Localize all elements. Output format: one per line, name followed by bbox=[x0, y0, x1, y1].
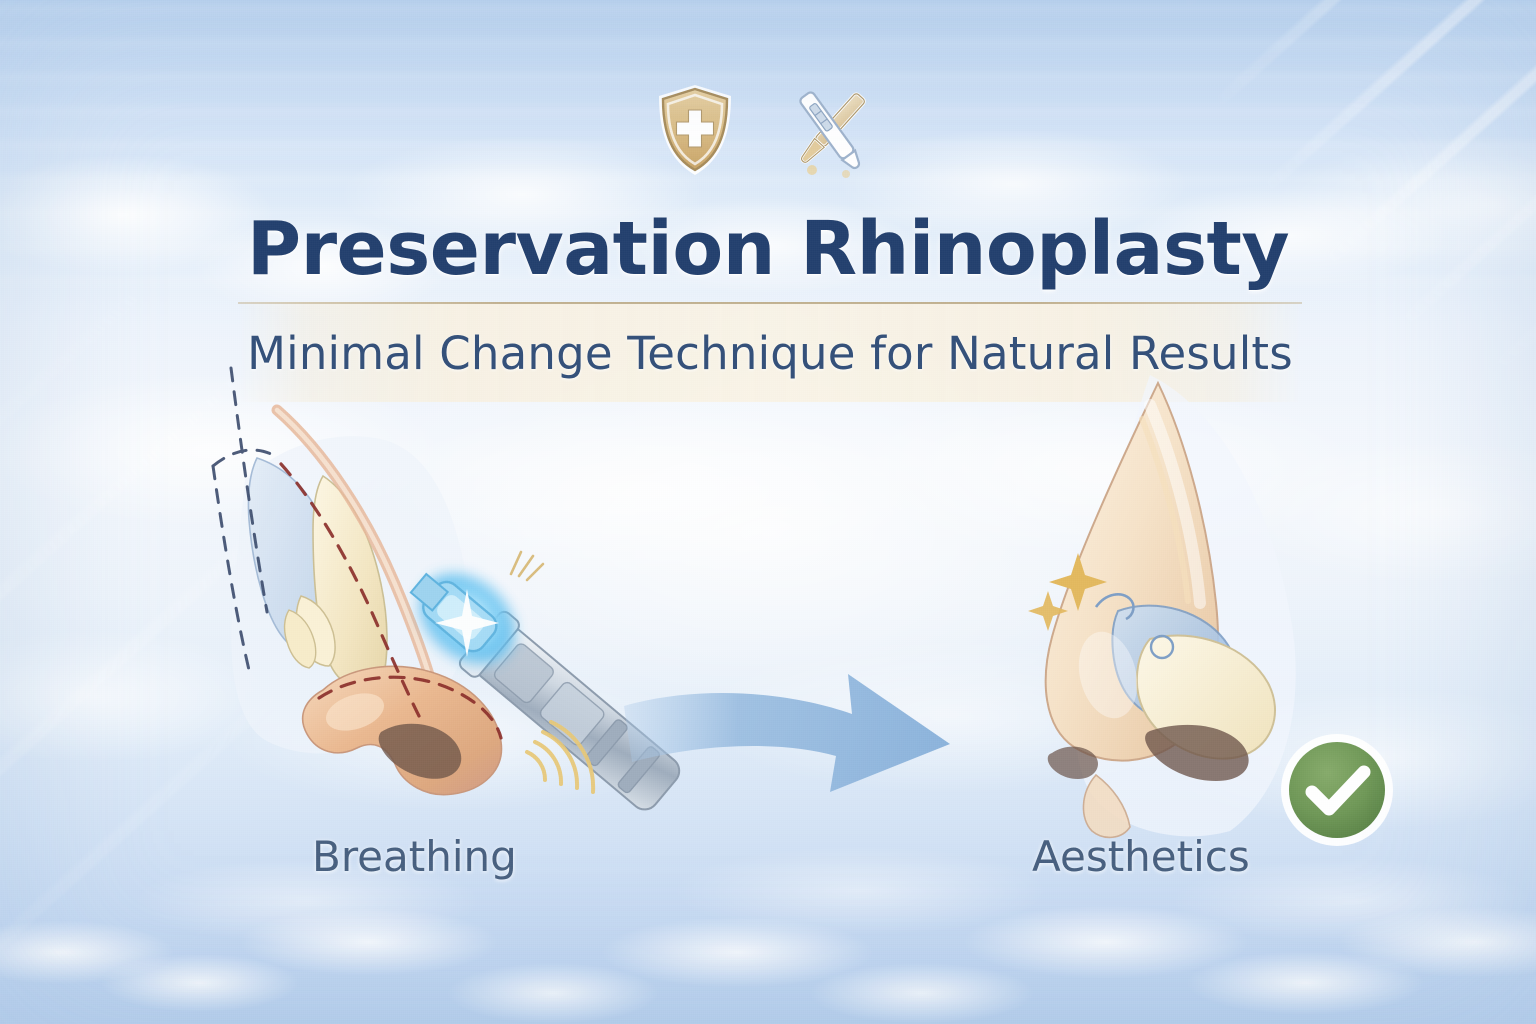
shield-medical-icon bbox=[652, 80, 738, 185]
vibration-arcs-icon bbox=[527, 722, 593, 792]
subtitle-band: Minimal Change Technique for Natural Res… bbox=[238, 302, 1302, 402]
transformation-arrow bbox=[620, 640, 1020, 830]
page-subtitle: Minimal Change Technique for Natural Res… bbox=[247, 327, 1293, 380]
piezo-ultrasonic-handpiece bbox=[394, 551, 689, 820]
caption-aesthetics: Aesthetics bbox=[1032, 832, 1250, 881]
success-check-badge bbox=[1277, 730, 1397, 850]
nose-anatomy-surgery-illustration bbox=[205, 360, 725, 840]
nose-result-illustration bbox=[1000, 375, 1430, 845]
header-icon-row bbox=[0, 78, 1536, 187]
surgical-instruments-icon bbox=[774, 78, 884, 187]
sparkle-icon bbox=[1028, 553, 1107, 631]
dorsal-preservation-dashed-line bbox=[281, 464, 419, 716]
osteotomy-dashed-line bbox=[213, 368, 275, 670]
page-title: Preservation Rhinoplasty bbox=[0, 212, 1536, 286]
poster-canvas: Preservation Rhinoplasty Minimal Change … bbox=[0, 0, 1536, 1024]
title-block: Preservation Rhinoplasty bbox=[0, 212, 1536, 286]
check-icon bbox=[1312, 772, 1364, 809]
caption-breathing: Breathing bbox=[312, 832, 517, 881]
tip-incision-dashed-line bbox=[319, 677, 501, 738]
